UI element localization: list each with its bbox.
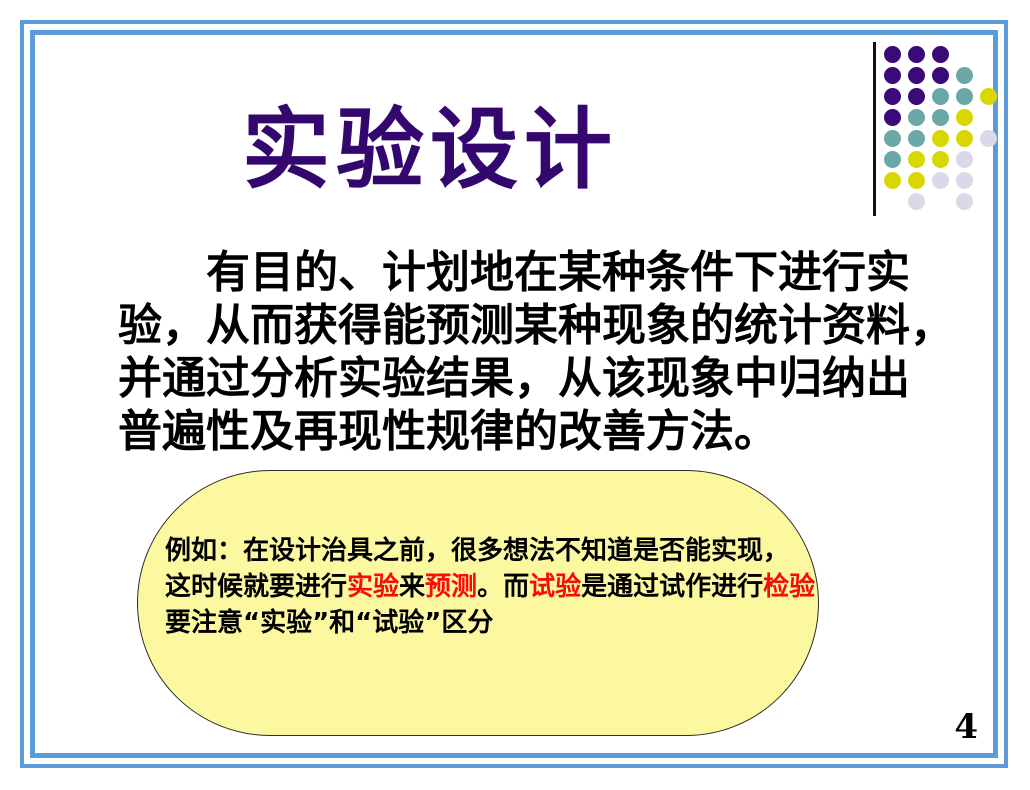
logo-dot	[884, 172, 901, 189]
logo-dot	[908, 46, 925, 63]
body-line-1: 有目的、计划地在某种条件下进行实	[118, 246, 930, 299]
logo-dot	[932, 46, 949, 63]
logo-dot	[932, 172, 949, 189]
example-callout-text: 例如：在设计治具之前，很多想法不知道是否能实现， 这时候就要进行实验来预测。而试…	[165, 533, 865, 641]
callout-line-3: 要注意“实验”和“试验”区分	[165, 605, 865, 641]
body-line-2: 验，从而获得能预测某种现象的统计资料，	[118, 299, 930, 352]
logo-dot	[956, 130, 973, 147]
callout-seg-a: 这时候就要进行	[165, 572, 347, 602]
logo-dot	[932, 88, 949, 105]
body-paragraph: 有目的、计划地在某种条件下进行实 验，从而获得能预测某种现象的统计资料， 并通过…	[118, 246, 930, 458]
page-number: 4	[954, 707, 978, 747]
logo-dot	[956, 67, 973, 84]
logo-dot	[956, 151, 973, 168]
logo-dot	[908, 151, 925, 168]
body-line-4: 普遍性及再现性规律的改善方法。	[118, 405, 930, 458]
logo-dot	[932, 151, 949, 168]
callout-highlight-yuce: 预测	[425, 572, 477, 602]
logo-dot	[932, 130, 949, 147]
callout-highlight-shiyan2: 试验	[529, 572, 581, 602]
logo-dot	[908, 88, 925, 105]
logo-dot	[884, 88, 901, 105]
dot-grid-logo	[884, 46, 996, 206]
logo-dot	[884, 46, 901, 63]
logo-dot	[908, 193, 925, 210]
logo-dot	[884, 130, 901, 147]
logo-dot	[884, 151, 901, 168]
logo-dot	[908, 109, 925, 126]
logo-dot	[956, 172, 973, 189]
callout-seg-e: 。而	[477, 572, 529, 602]
logo-dot	[884, 67, 901, 84]
logo-dot	[932, 67, 949, 84]
logo-dot	[932, 109, 949, 126]
logo-dot	[956, 88, 973, 105]
logo-dot	[956, 193, 973, 210]
callout-line-2: 这时候就要进行实验来预测。而试验是通过试作进行检验	[165, 569, 865, 605]
body-line-3: 并通过分析实验结果，从该现象中归纳出	[118, 352, 930, 405]
logo-dot	[956, 109, 973, 126]
logo-dot	[980, 130, 997, 147]
logo-dot	[980, 88, 997, 105]
logo-dot	[908, 130, 925, 147]
callout-line-1: 例如：在设计治具之前，很多想法不知道是否能实现，	[165, 533, 865, 569]
logo-dot	[908, 172, 925, 189]
callout-highlight-jianyan: 检验	[763, 572, 815, 602]
slide-canvas: 实验设计 有目的、计划地在某种条件下进行实 验，从而获得能预测某种现象的统计资料…	[0, 0, 1030, 790]
logo-vertical-rule	[873, 42, 876, 216]
logo-dot	[884, 109, 901, 126]
page-title: 实验设计	[0, 96, 860, 204]
logo-dot	[908, 67, 925, 84]
callout-highlight-shiyan: 实验	[347, 572, 399, 602]
callout-seg-c: 来	[399, 572, 425, 602]
callout-seg-g: 是通过试作进行	[581, 572, 763, 602]
